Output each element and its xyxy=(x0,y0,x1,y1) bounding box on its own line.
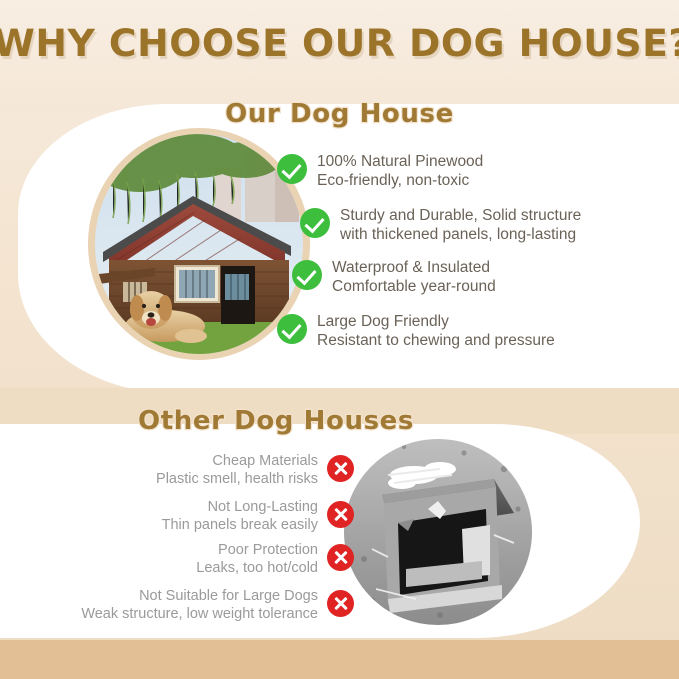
bottom-band xyxy=(0,640,679,679)
check-icon xyxy=(277,314,307,344)
cross-icon xyxy=(327,590,354,617)
pro-list-item: Waterproof & Insulated Comfortable year-… xyxy=(292,258,496,296)
pro-list-item: Sturdy and Durable, Solid structure with… xyxy=(300,206,581,244)
other-dog-house-photo xyxy=(344,439,532,625)
pro-item-text: 100% Natural Pinewood Eco-friendly, non-… xyxy=(317,152,483,190)
con-item-text: Not Suitable for Large Dogs Weak structu… xyxy=(81,587,318,623)
check-icon xyxy=(277,154,307,184)
con-list-item: Cheap Materials Plastic smell, health ri… xyxy=(156,452,354,488)
con-item-text: Not Long-Lasting Thin panels break easil… xyxy=(162,498,318,534)
con-list-item: Not Suitable for Large Dogs Weak structu… xyxy=(81,587,354,623)
section-heading-our-dog-house: Our Dog House xyxy=(0,99,679,129)
con-item-text: Cheap Materials Plastic smell, health ri… xyxy=(156,452,318,488)
our-dog-house-photo xyxy=(95,134,303,354)
section-heading-other-dog-houses: Other Dog Houses xyxy=(138,406,414,436)
con-item-text: Poor Protection Leaks, too hot/cold xyxy=(196,541,318,577)
check-icon xyxy=(300,208,330,238)
page-title: WHY CHOOSE OUR DOG HOUSE?" xyxy=(0,22,679,65)
cross-icon xyxy=(327,501,354,528)
pro-item-text: Sturdy and Durable, Solid structure with… xyxy=(340,206,581,244)
con-list-item: Not Long-Lasting Thin panels break easil… xyxy=(162,498,354,534)
con-list-item: Poor Protection Leaks, too hot/cold xyxy=(196,541,354,577)
pro-list-item: 100% Natural Pinewood Eco-friendly, non-… xyxy=(277,152,483,190)
pro-item-text: Waterproof & Insulated Comfortable year-… xyxy=(332,258,496,296)
comparison-poster: WHY CHOOSE OUR DOG HOUSE?" Our Dog House xyxy=(0,0,679,679)
pro-item-text: Large Dog Friendly Resistant to chewing … xyxy=(317,312,555,350)
check-icon xyxy=(292,260,322,290)
cross-icon xyxy=(327,455,354,482)
pro-list-item: Large Dog Friendly Resistant to chewing … xyxy=(277,312,555,350)
cross-icon xyxy=(327,544,354,571)
